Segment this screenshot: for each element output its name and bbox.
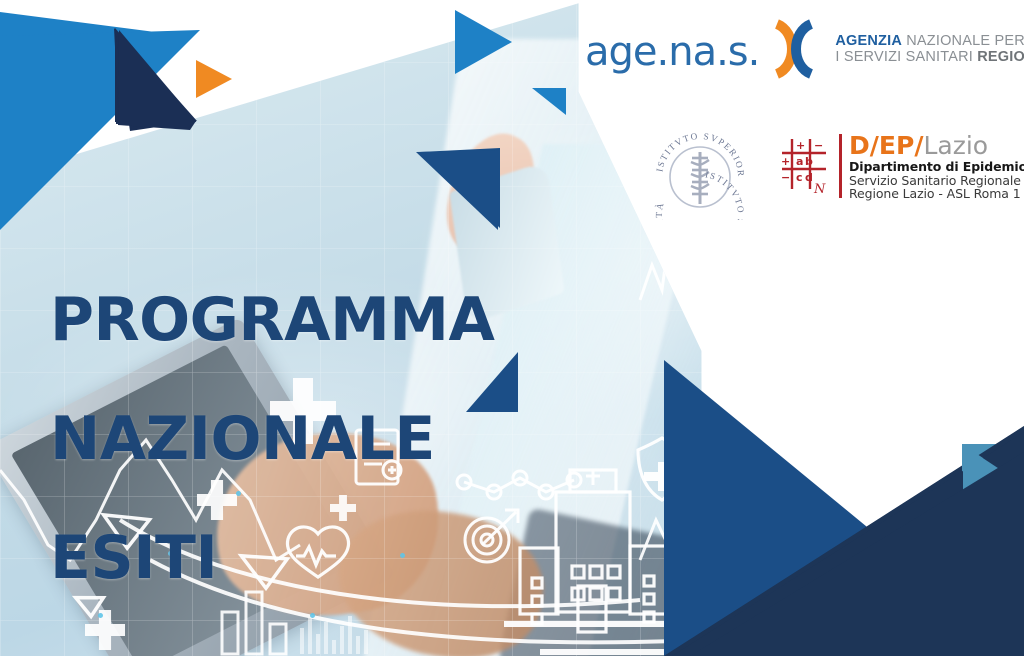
agenas-tagline: AGENZIA NAZIONALE PER I SERVIZI SANITARI… [835, 33, 1024, 65]
triangle-orange-small [196, 60, 232, 98]
dep-line-2: Dipartimento di Epidemiologia [849, 161, 1024, 174]
svg-text:a: a [796, 155, 803, 168]
dep-brand-slash-1: / [870, 131, 879, 160]
triangle-blue-small-right [532, 88, 566, 115]
dep-brand-lazio: Lazio [923, 131, 988, 160]
title-line-1: PROGRAMMA [50, 291, 494, 350]
agenas-tagline-bold-2: REGIONALI [977, 49, 1024, 65]
iss-logo: ISTITVTO SVPERIORE DI SANITÀ ISTITVTO SV… [648, 130, 752, 220]
svg-text:+: + [796, 139, 805, 152]
cover-page: PROGRAMMA NAZIONALE ESITI age.na.s. AGEN… [0, 0, 1024, 656]
agenas-wordmark: age.na.s. [585, 32, 759, 72]
title-line-2: NAZIONALE [50, 410, 494, 469]
dep-line-4: Regione Lazio - ASL Roma 1 [849, 188, 1024, 201]
svg-text:c: c [796, 171, 803, 184]
dep-grid-mark-icon: + − + − a b c d N [778, 133, 834, 199]
dep-brand: D/EP/Lazio [849, 133, 1024, 158]
page-title: PROGRAMMA NAZIONALE ESITI [50, 232, 494, 648]
svg-text:d: d [805, 171, 813, 184]
svg-text:−: − [814, 139, 823, 152]
dep-brand-d: D [849, 131, 870, 160]
agenas-tagline-bold-1: AGENZIA [835, 33, 902, 49]
dep-divider [839, 134, 842, 198]
triangle-blue-top-right [455, 10, 512, 74]
title-line-3: ESITI [50, 529, 494, 588]
triangle-deep-blue-mid-b [416, 150, 498, 230]
agenas-tagline-rest-2: I SERVIZI SANITARI [835, 49, 977, 65]
dep-brand-ep: EP [879, 131, 914, 160]
svg-text:−: − [781, 171, 790, 184]
triangle-bright-blue-large-left-b [0, 30, 200, 230]
agenas-parenthesis-mark [763, 18, 825, 80]
dep-lazio-logo: + − + − a b c d N D/EP/Lazio Dipartiment… [778, 133, 1024, 201]
svg-text:N: N [813, 182, 826, 197]
svg-text:+: + [781, 155, 790, 168]
svg-text:b: b [805, 155, 813, 168]
agenas-tagline-rest-1: NAZIONALE PER [902, 33, 1024, 49]
agenas-logo: age.na.s. AGENZIA NAZIONALE PER I SERVIZ… [585, 18, 1024, 80]
